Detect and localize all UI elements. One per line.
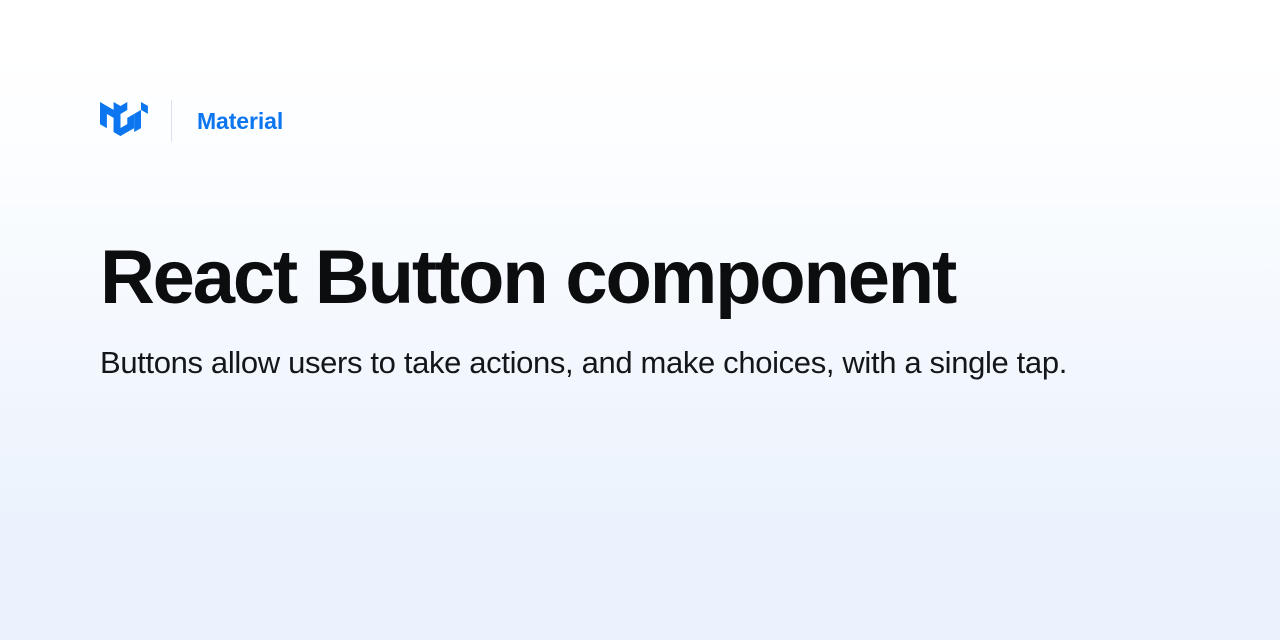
page-title: React Button component xyxy=(100,236,1180,320)
page-subtitle: Buttons allow users to take actions, and… xyxy=(100,334,1120,392)
brand-divider xyxy=(171,100,172,142)
brand-header: Material xyxy=(100,98,283,144)
mui-logo-icon[interactable] xyxy=(100,102,148,140)
page-root: Material React Button component Buttons … xyxy=(0,0,1280,640)
product-name-label[interactable]: Material xyxy=(197,110,283,133)
hero-section: React Button component Buttons allow use… xyxy=(100,236,1180,392)
